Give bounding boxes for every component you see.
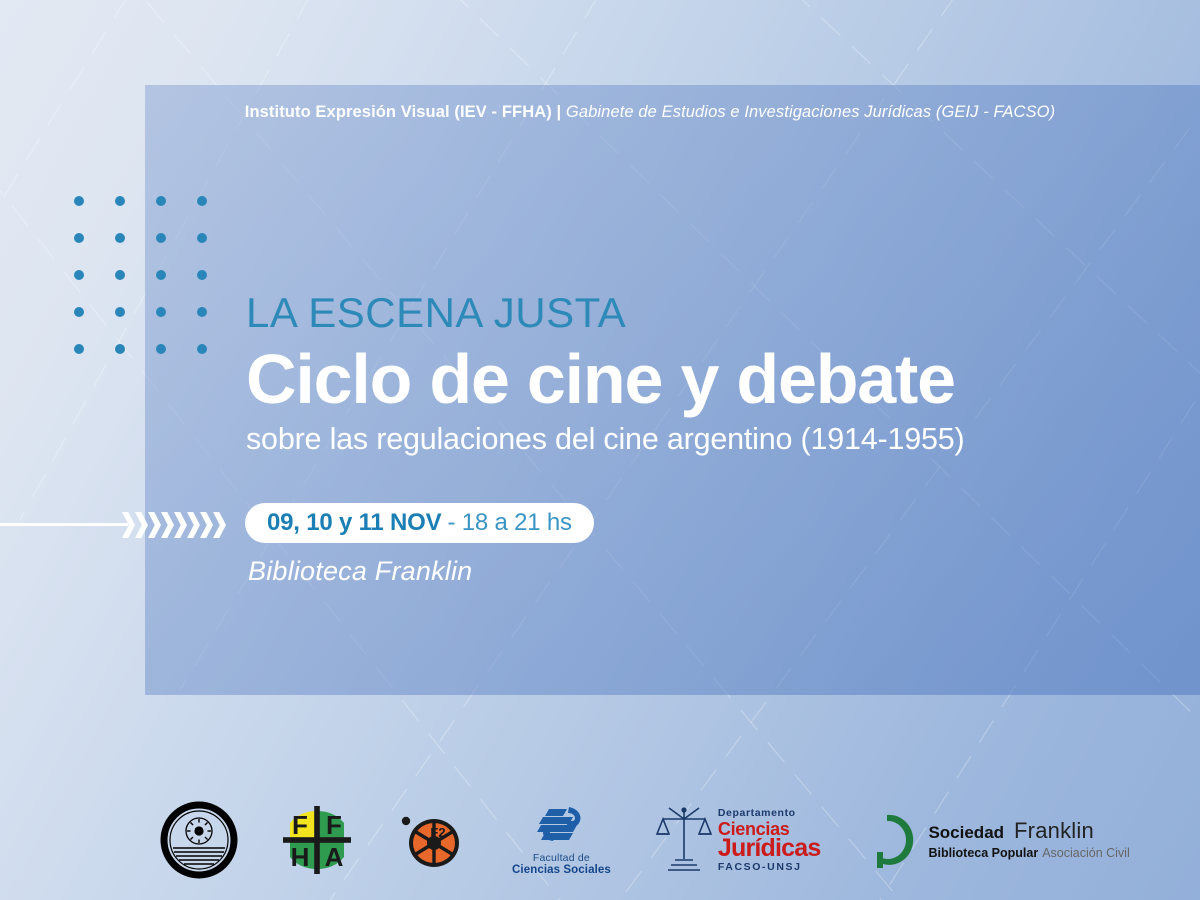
headline-block: LA ESCENA JUSTA Ciclo de cine y debate s… [246, 292, 964, 457]
svg-text:A: A [325, 842, 344, 872]
chevron-right-icon [213, 512, 226, 538]
grid-dot [115, 233, 125, 243]
grid-dot [197, 344, 207, 354]
organizer-primary: Instituto Expresión Visual (IEV - FFHA) [245, 103, 552, 121]
badge-times: - 18 a 21 hs [447, 509, 571, 537]
chevron-right-icon [122, 512, 135, 538]
chevron-right-icon [135, 512, 148, 538]
ffha-icon: F F H A [280, 803, 354, 877]
franklin-biblioteca: Biblioteca Popular [928, 846, 1038, 860]
logo-ciencias-juridicas: Departamento Ciencias Jurídicas FACSO-UN… [655, 803, 821, 877]
chevron-right-icon [148, 512, 161, 538]
dot-grid-decoration [74, 196, 238, 381]
grid-dot [197, 270, 207, 280]
chevron-right-icon [187, 512, 200, 538]
grid-dot [74, 233, 84, 243]
grid-dot [115, 344, 125, 354]
svg-text:F: F [292, 810, 308, 840]
grid-dot [156, 196, 166, 206]
grid-dot [156, 344, 166, 354]
franklin-sociedad: Sociedad [928, 823, 1004, 842]
organizer-secondary: Gabinete de Estudios e Investigaciones J… [566, 103, 1055, 121]
poster-title: Ciclo de cine y debate [246, 344, 964, 415]
organizer-line: Instituto Expresión Visual (IEV - FFHA) … [145, 103, 1155, 122]
poster-subtitle: sobre las regulaciones del cine argentin… [246, 423, 964, 457]
venue-name: Biblioteca Franklin [248, 556, 472, 587]
logo-unsj-seal [160, 801, 238, 879]
ciencias-sociales-line1: Facultad de [533, 852, 590, 864]
svg-text:H: H [291, 842, 310, 872]
arrow-decoration [0, 512, 228, 538]
badge-dates: 09, 10 y 11 NOV [267, 509, 441, 537]
grid-dot [74, 196, 84, 206]
chevron-right-icon [161, 512, 174, 538]
logo-ciencias-sociales: Facultad de Ciencias Sociales [512, 805, 611, 876]
juridicas-line1: Departamento [718, 808, 821, 819]
franklin-asociacion: Asociación Civil [1042, 846, 1130, 860]
chevron-right-icon [200, 512, 213, 538]
organizer-separator: | [557, 103, 562, 121]
svg-text:F2: F2 [430, 825, 445, 840]
franklin-circle-icon [858, 810, 916, 870]
grid-dot [115, 270, 125, 280]
ciencias-sociales-line2: Ciencias Sociales [512, 864, 611, 876]
film-reel-icon: F2 [398, 807, 464, 873]
grid-dot [74, 270, 84, 280]
event-poster: Instituto Expresión Visual (IEV - FFHA) … [0, 0, 1200, 900]
grid-dot [74, 344, 84, 354]
juridicas-line3: Jurídicas [718, 836, 821, 861]
svg-text:F: F [326, 810, 342, 840]
sponsor-logo-strip: F F H A F2 [0, 795, 1200, 885]
poster-kicker: LA ESCENA JUSTA [246, 292, 964, 334]
chevron-row-icon [122, 512, 226, 538]
grid-dot [156, 233, 166, 243]
grid-dot [115, 307, 125, 317]
unsj-seal-icon [160, 801, 238, 879]
logo-sociedad-franklin: SociedadFranklin Biblioteca PopularAsoci… [858, 810, 1129, 870]
grid-dot [197, 233, 207, 243]
chevron-right-icon [174, 512, 187, 538]
logo-iev-reel: F2 [398, 807, 464, 873]
grid-dot [115, 196, 125, 206]
juridicas-line4: FACSO-UNSJ [718, 862, 821, 873]
franklin-name: Franklin [1014, 818, 1094, 843]
logo-ffha: F F H A [280, 803, 354, 877]
grid-dot [156, 270, 166, 280]
grid-dot [197, 307, 207, 317]
grid-dot [197, 196, 207, 206]
grid-dot [156, 307, 166, 317]
grid-dot [74, 307, 84, 317]
scales-of-justice-icon [655, 803, 713, 877]
date-time-badge: 09, 10 y 11 NOV - 18 a 21 hs [245, 503, 594, 543]
arrow-line [0, 523, 128, 526]
ciencias-sociales-icon [533, 805, 589, 849]
